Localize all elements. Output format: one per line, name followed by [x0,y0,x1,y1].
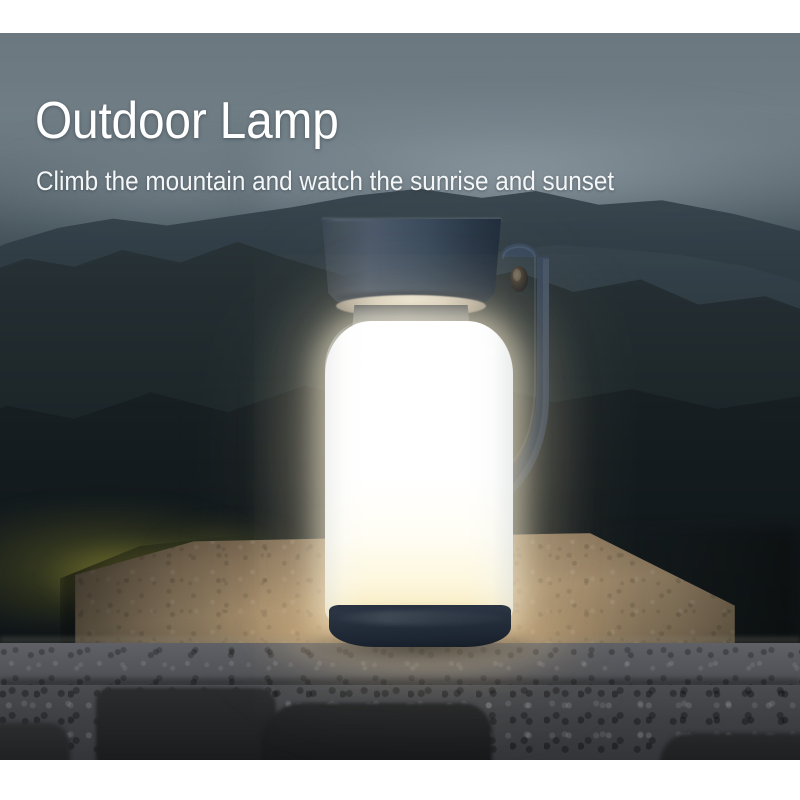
top-letterbox-band [0,0,800,33]
page-title: Outdoor Lamp [35,95,339,147]
scene-photo: Outdoor Lamp Climb the mountain and watc… [0,33,800,760]
lamp-diffuser-top-highlight [340,325,500,377]
bottom-letterbox-band [0,760,800,800]
lamp-base-sheen [336,611,504,625]
page-subtitle: Climb the mountain and watch the sunrise… [36,168,614,195]
product-banner-image: Outdoor Lamp Climb the mountain and watc… [0,0,800,800]
